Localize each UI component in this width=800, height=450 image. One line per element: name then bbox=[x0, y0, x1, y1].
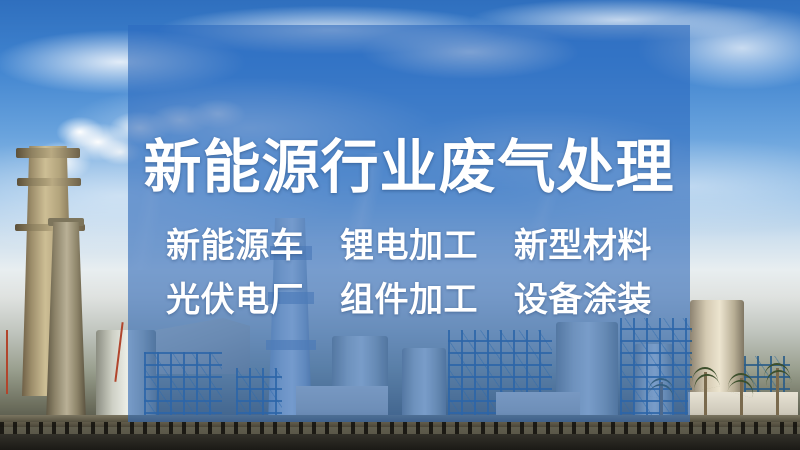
foreground-ground bbox=[0, 434, 800, 450]
promo-banner: 新能源行业废气处理 新能源车 锂电加工 新型材料 光伏电厂 组件加工 设备涂装 bbox=[0, 0, 800, 450]
construction-crane bbox=[6, 330, 8, 394]
subtitle-item: 组件加工 bbox=[340, 281, 478, 319]
subtitle-item: 新能源车 bbox=[166, 227, 304, 265]
smokestack-band bbox=[16, 148, 80, 158]
subtitle-line-2: 光伏电厂 组件加工 设备涂装 bbox=[166, 283, 652, 317]
smokestack-band bbox=[17, 178, 81, 186]
subtitle-item: 新型材料 bbox=[514, 227, 652, 265]
subtitle-line-1: 新能源车 锂电加工 新型材料 bbox=[166, 229, 652, 263]
headline-title: 新能源行业废气处理 bbox=[143, 136, 674, 201]
subtitle-item: 光伏电厂 bbox=[166, 281, 304, 319]
subtitle-item: 锂电加工 bbox=[340, 227, 478, 265]
banner-text-block: 新能源行业废气处理 新能源车 锂电加工 新型材料 光伏电厂 组件加工 设备涂装 bbox=[128, 25, 690, 422]
subtitle-item: 设备涂装 bbox=[514, 281, 652, 319]
